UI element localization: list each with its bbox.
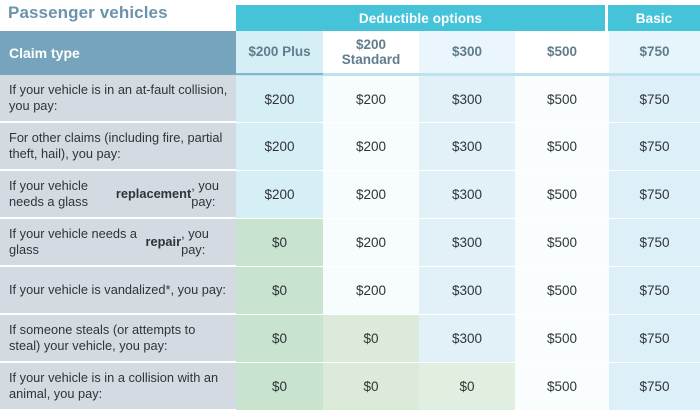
deductible-cell: $200 bbox=[323, 123, 419, 171]
row-label: If your vehicle is vandalized*, you pay: bbox=[0, 267, 236, 315]
deductible-cell: $750 bbox=[609, 75, 700, 123]
deductible-cell: $300 bbox=[419, 123, 515, 171]
deductible-cell: $300 bbox=[419, 315, 515, 363]
deductible-cell: $200 bbox=[236, 75, 323, 123]
deductible-cell: $500 bbox=[515, 75, 609, 123]
table-column-header-row: Claim type $200 Plus$200Standard$300$500… bbox=[0, 31, 700, 75]
table-row: For other claims (including fire, partia… bbox=[0, 123, 700, 171]
deductible-cell: $200 bbox=[323, 219, 419, 267]
table-row: If your vehicle is in an at-fault collis… bbox=[0, 75, 700, 123]
deductible-cell: $0 bbox=[236, 267, 323, 315]
column-header-label-line2: Standard bbox=[342, 52, 401, 67]
table-row: If your vehicle needs a glass replacemen… bbox=[0, 171, 700, 219]
table-row: If your vehicle needs a glass repair, yo… bbox=[0, 219, 700, 267]
table-row: If someone steals (or attempts to steal)… bbox=[0, 315, 700, 363]
deductible-cell: $750 bbox=[609, 267, 700, 315]
deductible-cell: $0 bbox=[236, 363, 323, 411]
table-row: If your vehicle is in a collision with a… bbox=[0, 363, 700, 411]
group-header-deductible-options: Deductible options bbox=[236, 5, 605, 31]
deductible-cell: $500 bbox=[515, 171, 609, 219]
deductible-cell: $0 bbox=[419, 363, 515, 411]
deductible-cell: $750 bbox=[609, 219, 700, 267]
deductible-cell: $0 bbox=[323, 315, 419, 363]
deductible-cell: $300 bbox=[419, 219, 515, 267]
row-label: If your vehicle is in an at-fault collis… bbox=[0, 75, 236, 123]
deductible-cell: $300 bbox=[419, 267, 515, 315]
deductible-cell: $0 bbox=[236, 315, 323, 363]
column-header-500[interactable]: $500 bbox=[515, 31, 609, 75]
deductible-cell: $500 bbox=[515, 219, 609, 267]
column-header-claim-type: Claim type bbox=[0, 31, 236, 75]
page-title: Passenger vehicles bbox=[8, 3, 168, 23]
column-header-300[interactable]: $300 bbox=[419, 31, 515, 75]
deductible-cell: $200 bbox=[236, 171, 323, 219]
row-label: For other claims (including fire, partia… bbox=[0, 123, 236, 171]
row-label: If your vehicle needs a glass replacemen… bbox=[0, 171, 236, 219]
deductible-cell: $750 bbox=[609, 171, 700, 219]
row-label: If your vehicle needs a glass repair, yo… bbox=[0, 219, 236, 267]
deductible-cell: $200 bbox=[236, 123, 323, 171]
deductible-cell: $500 bbox=[515, 363, 609, 411]
deductible-cell: $500 bbox=[515, 123, 609, 171]
column-header-label-line1: $500 bbox=[547, 44, 577, 59]
deductible-cell: $200 bbox=[323, 75, 419, 123]
column-header-200-standard[interactable]: $200Standard bbox=[323, 31, 419, 75]
table-row: If your vehicle is vandalized*, you pay:… bbox=[0, 267, 700, 315]
deductible-cell: $500 bbox=[515, 267, 609, 315]
deductible-cell: $0 bbox=[323, 363, 419, 411]
column-header-label-line1: $300 bbox=[452, 44, 482, 59]
deductible-cell: $500 bbox=[515, 315, 609, 363]
table-top-header-row: Passenger vehicles Deductible options Ba… bbox=[0, 0, 700, 31]
deductible-cell: $300 bbox=[419, 75, 515, 123]
deductible-cell: $200 bbox=[323, 267, 419, 315]
deductible-cell: $300 bbox=[419, 171, 515, 219]
column-header-750[interactable]: $750 bbox=[609, 31, 700, 75]
column-header-label-line1: $750 bbox=[639, 44, 669, 59]
deductible-cell: $750 bbox=[609, 123, 700, 171]
deductible-comparison-table: Passenger vehicles Deductible options Ba… bbox=[0, 0, 700, 420]
column-header-200-plus[interactable]: $200 Plus bbox=[236, 31, 323, 75]
column-header-label-line1: $200 Plus bbox=[248, 44, 310, 59]
deductible-cell: $750 bbox=[609, 315, 700, 363]
group-header-basic: Basic bbox=[608, 5, 700, 31]
row-label: If someone steals (or attempts to steal)… bbox=[0, 315, 236, 363]
deductible-cell: $0 bbox=[236, 219, 323, 267]
deductible-cell: $200 bbox=[323, 171, 419, 219]
row-label: If your vehicle is in a collision with a… bbox=[0, 363, 236, 411]
table-body: If your vehicle is in an at-fault collis… bbox=[0, 75, 700, 411]
deductible-cell: $750 bbox=[609, 363, 700, 411]
column-header-label-line1: $200 bbox=[356, 37, 386, 52]
